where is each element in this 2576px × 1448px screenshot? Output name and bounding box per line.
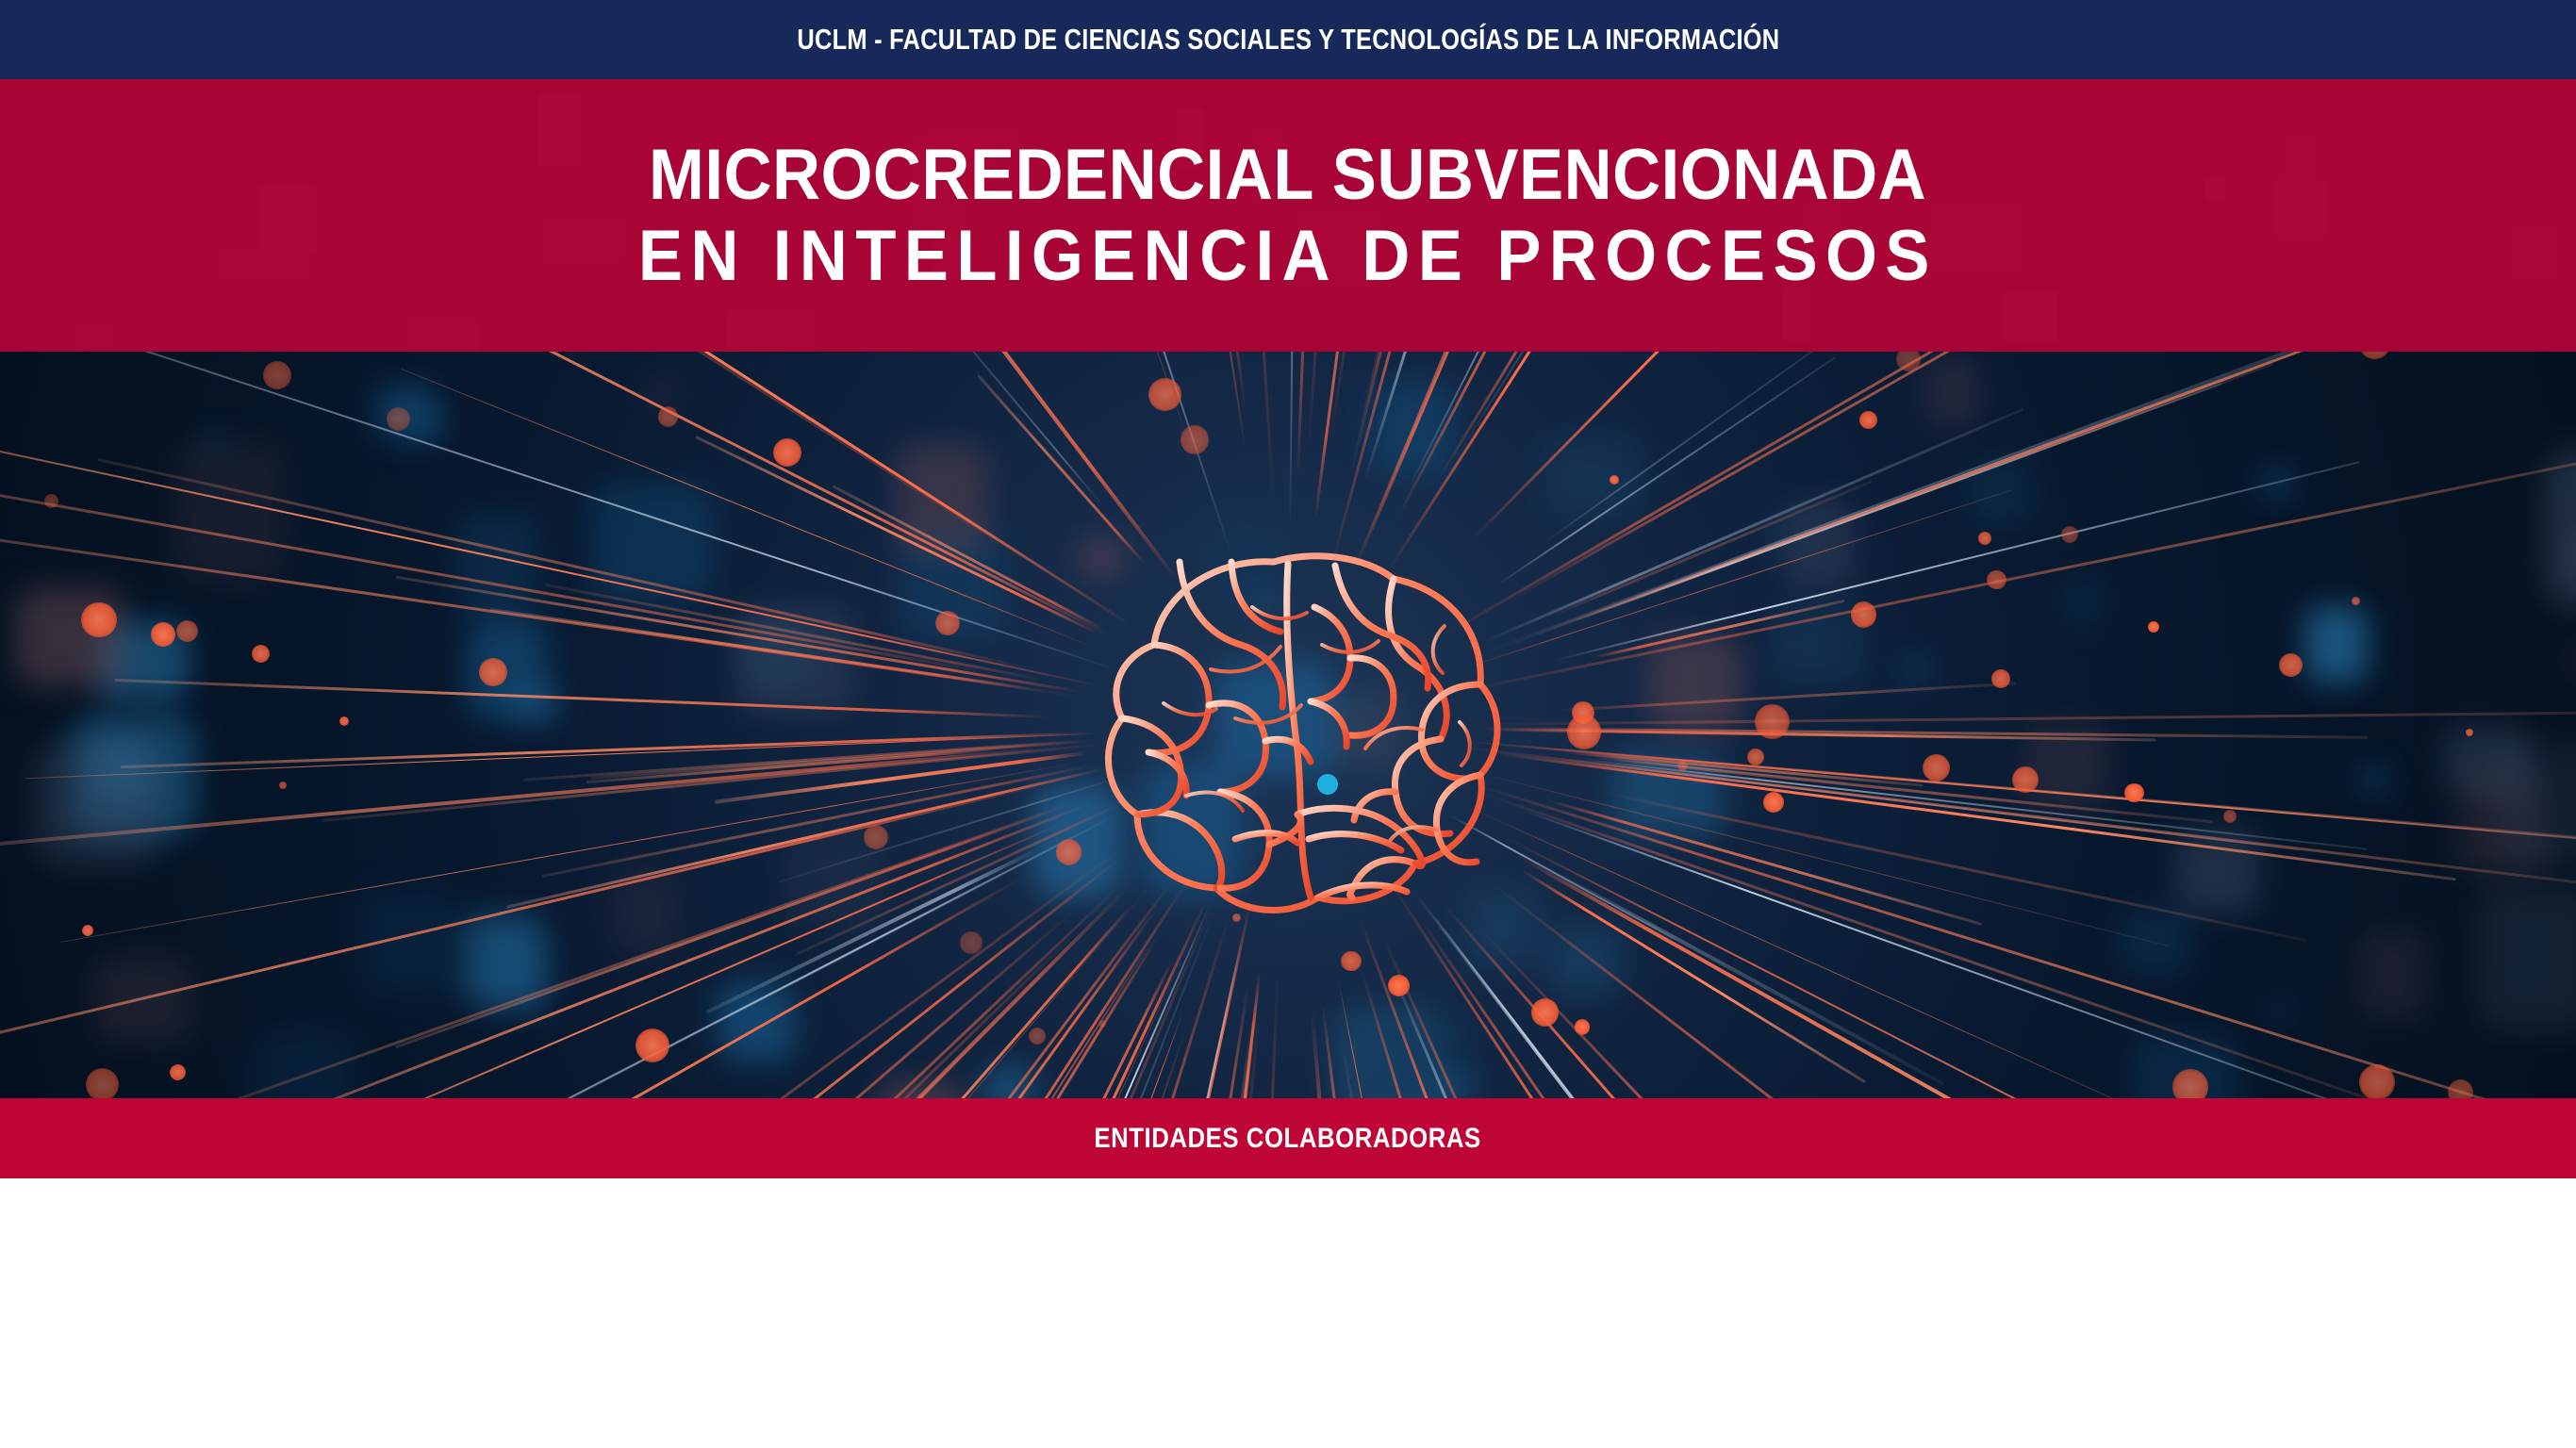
institution-header-bar: UCLM - FACULTAD DE CIENCIAS SOCIALES Y T… [0, 0, 2576, 79]
poster-root: UCLM - FACULTAD DE CIENCIAS SOCIALES Y T… [0, 0, 2576, 1448]
institution-name: UCLM - FACULTAD DE CIENCIAS SOCIALES Y T… [797, 23, 1779, 57]
brain-network-icon [986, 503, 1590, 946]
collaborators-label: ENTIDADES COLABORADORAS [1095, 1123, 1481, 1155]
footer-logos: ★★★★★★★★★★★★ Financiado por la Unión Eur… [0, 1178, 2576, 1448]
title-line-2: EN INTELIGENCIA DE PROCESOS [638, 221, 1938, 292]
title-band: MICROCREDENCIAL SUBVENCIONADA EN INTELIG… [0, 79, 2576, 352]
title-line-1: MICROCREDENCIAL SUBVENCIONADA [649, 140, 1926, 211]
hero-image: celonis [0, 352, 2576, 1098]
title-block: MICROCREDENCIAL SUBVENCIONADA EN INTELIG… [0, 79, 2576, 352]
collaborators-band: ENTIDADES COLABORADORAS [0, 1098, 2576, 1178]
